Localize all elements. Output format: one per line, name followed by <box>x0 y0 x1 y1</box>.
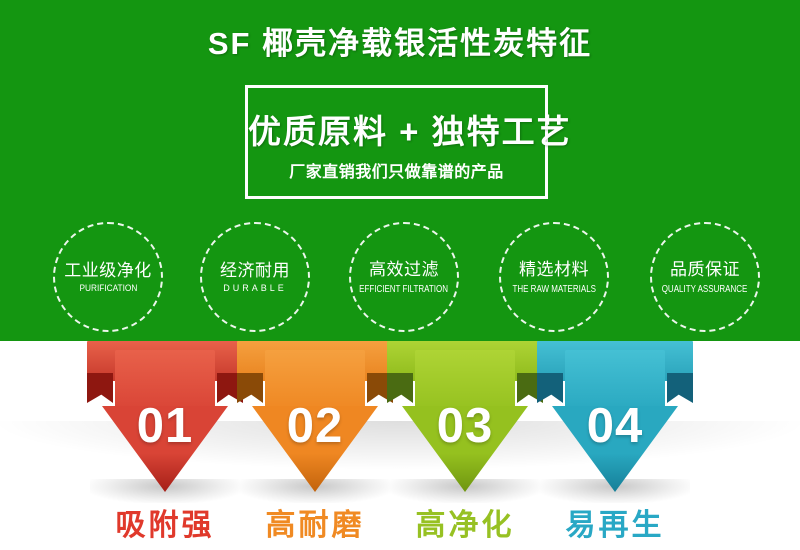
slogan-main-text: 优质原料 + 独特工艺 <box>248 105 545 153</box>
step-arrow-01-number: 01 <box>102 402 228 451</box>
slogan-sub-text: 厂家直销我们只做靠谱的产品 <box>248 158 545 182</box>
feature-circle-4: 品质保证 QUALITY ASSURANCE <box>650 222 760 332</box>
step-label-03: 高净化 <box>380 500 550 544</box>
slogan-box: 优质原料 + 独特工艺 厂家直销我们只做靠谱的产品 <box>245 85 548 199</box>
poster-canvas: SF 椰壳净载银活性炭特征 优质原料 + 独特工艺 厂家直销我们只做靠谱的产品 … <box>0 0 800 550</box>
feature-circle-0-en: PURIFICATION <box>79 284 137 294</box>
feature-circle-3-cn: 精选材料 <box>519 259 589 280</box>
step-arrow-03-body: 03 <box>402 350 528 492</box>
step-label-04: 易再生 <box>530 500 700 544</box>
step-arrow-04-body: 04 <box>552 350 678 492</box>
feature-circle-list: 工业级净化 PURIFICATION 经济耐用 DURABLE 高效过滤 EFF… <box>0 222 800 332</box>
step-arrow-04-number: 04 <box>552 402 678 451</box>
step-label-02: 高耐磨 <box>230 500 400 544</box>
step-arrow-02-number: 02 <box>252 402 378 451</box>
feature-circle-1-cn: 经济耐用 <box>220 260 290 281</box>
feature-circle-0: 工业级净化 PURIFICATION <box>53 222 163 332</box>
feature-circle-3: 精选材料 THE RAW MATERIALS <box>499 222 609 332</box>
step-arrow-03-number: 03 <box>402 402 528 451</box>
feature-circle-2-cn: 高效过滤 <box>369 259 439 280</box>
step-label-01: 吸附强 <box>80 500 250 544</box>
feature-circle-3-en: THE RAW MATERIALS <box>512 284 596 295</box>
feature-circle-1-en: DURABLE <box>223 284 287 294</box>
feature-circle-4-en: QUALITY ASSURANCE <box>662 284 748 295</box>
feature-circle-2-en: EFFICIENT FILTRATION <box>360 284 449 295</box>
feature-circle-4-cn: 品质保证 <box>670 259 740 280</box>
feature-circle-1: 经济耐用 DURABLE <box>200 222 310 332</box>
feature-circle-2: 高效过滤 EFFICIENT FILTRATION <box>349 222 459 332</box>
step-arrow-02-body: 02 <box>252 350 378 492</box>
green-background-panel: SF 椰壳净载银活性炭特征 优质原料 + 独特工艺 厂家直销我们只做靠谱的产品 … <box>0 0 800 341</box>
page-title: SF 椰壳净载银活性炭特征 <box>0 18 800 63</box>
step-arrow-01-body: 01 <box>102 350 228 492</box>
step-label-list: 吸附强 高耐磨 高净化 易再生 <box>0 500 800 550</box>
feature-circle-0-cn: 工业级净化 <box>64 260 152 281</box>
